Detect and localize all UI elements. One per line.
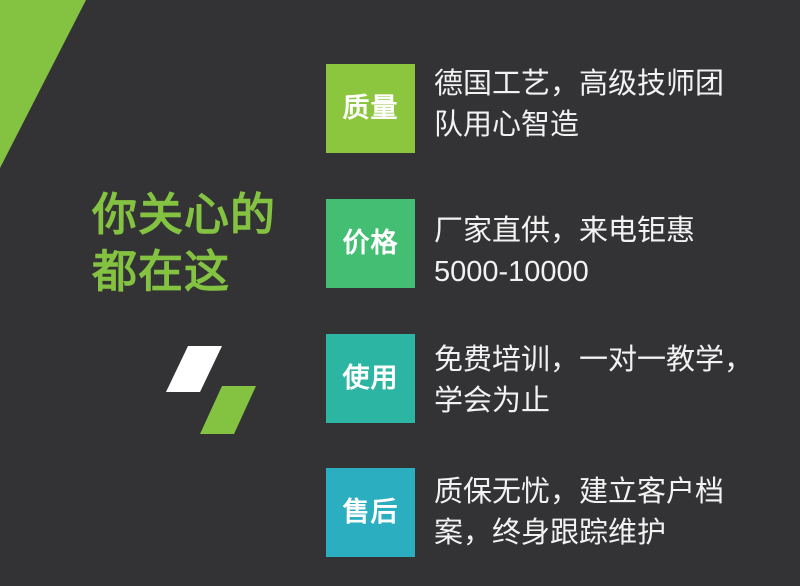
feature-description: 厂家直供，来电钜惠 5000-10000 <box>434 199 800 293</box>
feature-row: 售后 质保无忧，建立客户档 案，终身跟踪维护 <box>326 468 800 558</box>
promo-poster: 你关心的 都在这 质量 德国工艺，高级技师团 队用心智造 价格 厂家直供，来电钜… <box>0 0 800 586</box>
feature-description: 免费培训，一对一教学， 学会为止 <box>434 334 800 422</box>
feature-badge-quality: 质量 <box>326 64 415 153</box>
logo-upper-parallelogram <box>166 346 222 392</box>
feature-row: 质量 德国工艺，高级技师团 队用心智造 <box>326 64 800 154</box>
logo-lower-parallelogram <box>200 386 256 434</box>
feature-description: 质保无忧，建立客户档 案，终身跟踪维护 <box>434 468 800 554</box>
feature-row: 价格 厂家直供，来电钜惠 5000-10000 <box>326 199 800 289</box>
feature-description: 德国工艺，高级技师团 队用心智造 <box>434 64 800 146</box>
feature-badge-usage: 使用 <box>326 334 415 423</box>
brand-logo <box>160 342 264 438</box>
left-column: 你关心的 都在这 <box>0 0 310 586</box>
feature-badge-price: 价格 <box>326 199 415 288</box>
feature-row: 使用 免费培训，一对一教学， 学会为止 <box>326 334 800 424</box>
page-title: 你关心的 都在这 <box>92 186 307 300</box>
feature-list: 质量 德国工艺，高级技师团 队用心智造 价格 厂家直供，来电钜惠 5000-10… <box>326 0 800 586</box>
feature-badge-aftersales: 售后 <box>326 468 415 557</box>
